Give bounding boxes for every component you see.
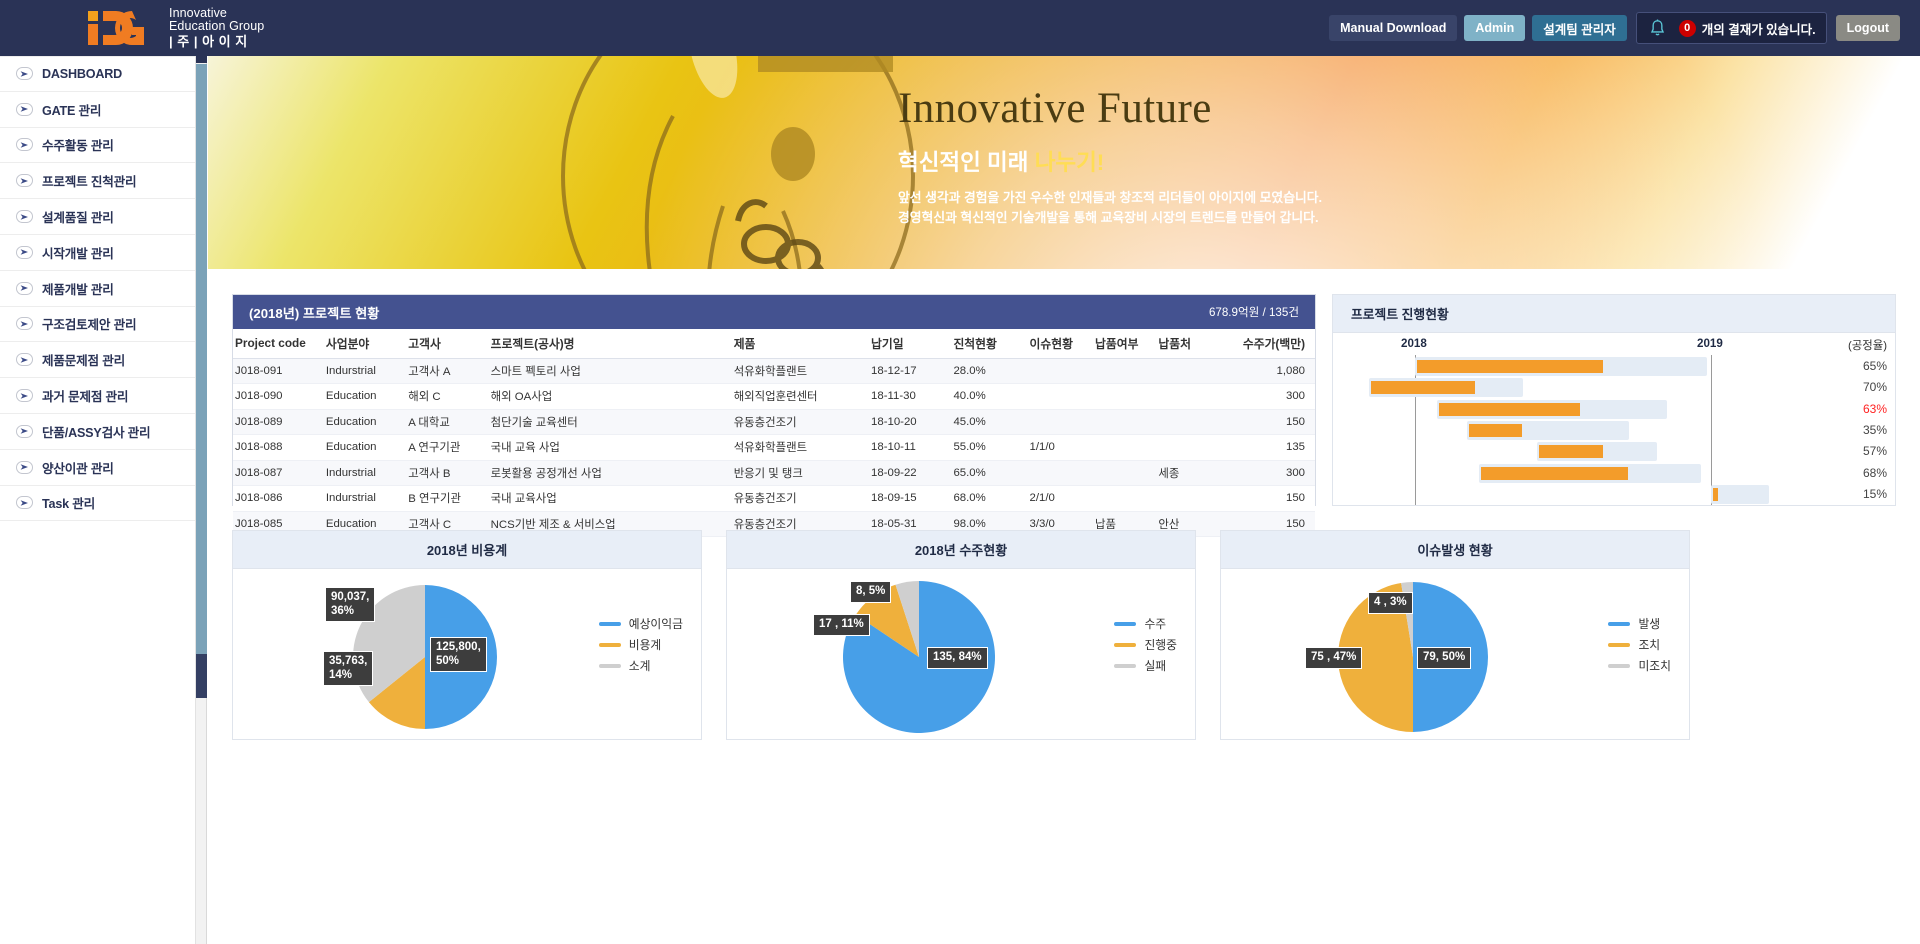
legend-item[interactable]: 진행중	[1114, 636, 1177, 653]
table-row[interactable]: J018-089EducationA 대학교첨단기술 교육센터유동층건조기18-…	[233, 409, 1315, 435]
sidebar-item-12[interactable]: 양산이관 관리	[0, 450, 195, 486]
order-pie-title: 2018년 수주현황	[915, 540, 1007, 559]
table-cell-client: B 연구기관	[406, 486, 488, 512]
banner-title: Innovative Future	[898, 84, 1322, 133]
table-cell-delivered	[1093, 409, 1156, 435]
table-row[interactable]: J018-091Indurstrial고객사 A스마트 펙토리 사업석유화학플랜…	[233, 358, 1315, 384]
cost-pie-body: 예상이익금비용계소계125,800, 50%35,763, 14%90,037,…	[233, 569, 701, 739]
table-cell-client: A 연구기관	[406, 435, 488, 461]
legend-label: 진행중	[1144, 636, 1177, 653]
pie-legend: 예상이익금비용계소계	[599, 615, 683, 678]
cost-pie-header: 2018년 비용계	[233, 531, 701, 569]
sidebar-item-10[interactable]: 과거 문제점 관리	[0, 378, 195, 414]
table-cell-project: 첨단기술 교육센터	[489, 409, 732, 435]
table-cell-project: 해외 OA사업	[489, 384, 732, 410]
chevron-right-icon	[16, 353, 33, 366]
banner-text-block: Innovative Future 혁신적인 미래 나누기! 앞선 생각과 경험…	[898, 84, 1322, 228]
pie-data-label: 8, 5%	[850, 581, 891, 603]
table-cell-amount: 1,080	[1220, 358, 1315, 384]
notification-text: 개의 결재가 있습니다.	[1702, 19, 1816, 38]
sidebar-item-label: 양산이관 관리	[42, 458, 114, 477]
gantt-progress-percent: 63%	[1841, 402, 1887, 416]
sidebar: DASHBOARDGATE 관리수주활동 관리프로젝트 진척관리설계품질 관리시…	[0, 56, 196, 944]
gantt-unit-label: (공정율)	[1848, 337, 1887, 353]
table-cell-due: 18-11-30	[869, 384, 951, 410]
table-column-header: 이슈현황	[1028, 329, 1094, 358]
sidebar-item-4[interactable]: 프로젝트 진척관리	[0, 163, 195, 199]
project-table: Project code사업분야고객사프로젝트(공사)명제품납기일진척현황이슈현…	[233, 329, 1315, 537]
chevron-right-icon	[16, 210, 33, 223]
legend-item[interactable]: 실패	[1114, 657, 1177, 674]
table-column-header: 사업분야	[324, 329, 406, 358]
pie-data-label: 17 , 11%	[813, 614, 870, 636]
issue-pie-card: 이슈발생 현황 발생조치미조치79, 50%75 , 47%4 , 3%	[1220, 530, 1690, 740]
table-cell-client: 고객사 B	[406, 460, 488, 486]
scrollbar-bottom-cap	[196, 654, 207, 698]
gantt-row: 15%	[1333, 485, 1895, 504]
table-cell-amount: 150	[1220, 409, 1315, 435]
pie-data-label: 4 , 3%	[1368, 592, 1413, 614]
table-cell-dest	[1156, 409, 1219, 435]
gantt-bar-fill	[1417, 360, 1603, 373]
table-header-row: Project code사업분야고객사프로젝트(공사)명제품납기일진척현황이슈현…	[233, 329, 1315, 358]
table-cell-field: Indurstrial	[324, 358, 406, 384]
chevron-right-icon	[16, 425, 33, 438]
banner-subtitle: 혁신적인 미래 나누기!	[898, 145, 1322, 177]
lightbulb-illustration-icon	[488, 56, 968, 269]
table-cell-progress: 40.0%	[951, 384, 1027, 410]
table-cell-issue	[1028, 409, 1094, 435]
sidebar-item-3[interactable]: 수주활동 관리	[0, 128, 195, 164]
notification-area[interactable]: 0 개의 결재가 있습니다.	[1636, 12, 1827, 44]
gantt-axis-label-2019: 2019	[1697, 337, 1723, 350]
top-bar: Innovative Education Group | 주 | 아 이 지 M…	[0, 0, 1920, 56]
notification-count: 0	[1679, 20, 1696, 37]
project-progress-card: 프로젝트 진행현황 20182019(공정율)65%70%63%35%57%68…	[1332, 294, 1896, 506]
table-row[interactable]: J018-090Education해외 C해외 OA사업해외직업훈련센터18-1…	[233, 384, 1315, 410]
sidebar-item-label: 수주활동 관리	[42, 135, 114, 154]
manual-download-button[interactable]: Manual Download	[1329, 15, 1457, 41]
legend-label: 실패	[1144, 657, 1166, 674]
chevron-right-icon	[16, 103, 33, 116]
table-cell-progress: 68.0%	[951, 486, 1027, 512]
sidebar-item-11[interactable]: 단품/ASSY검사 관리	[0, 414, 195, 450]
table-cell-project: 로봇활용 공정개선 사업	[489, 460, 732, 486]
table-cell-due: 18-09-15	[869, 486, 951, 512]
gantt-bar-fill	[1481, 467, 1628, 480]
table-cell-due: 18-10-20	[869, 409, 951, 435]
gantt-row: 70%	[1333, 378, 1895, 397]
gantt-bar-track	[1711, 485, 1769, 504]
pie-data-label: 35,763, 14%	[323, 651, 373, 686]
legend-swatch	[599, 664, 621, 668]
legend-swatch	[1114, 643, 1136, 647]
gantt-row: 65%	[1333, 357, 1895, 376]
table-cell-product: 해외직업훈련센터	[732, 384, 869, 410]
gantt-row: 63%	[1333, 400, 1895, 419]
gantt-card-title: 프로젝트 진행현황	[1351, 304, 1449, 323]
gantt-chart: 20182019(공정율)65%70%63%35%57%68%15%	[1333, 333, 1895, 506]
table-column-header: 납품처	[1156, 329, 1219, 358]
top-bar-actions: Manual Download Admin 설계팀 관리자 0 개의 결재가 있…	[1329, 0, 1900, 56]
table-cell-code: J018-086	[233, 486, 324, 512]
legend-item[interactable]: 소계	[599, 657, 683, 674]
table-cell-code: J018-088	[233, 435, 324, 461]
legend-swatch	[599, 643, 621, 647]
table-cell-issue	[1028, 384, 1094, 410]
legend-swatch	[1608, 643, 1630, 647]
banner-subtitle-highlight: 나누기!	[1035, 150, 1105, 175]
sidebar-item-7[interactable]: 제품개발 관리	[0, 271, 195, 307]
gantt-bar-fill	[1469, 424, 1522, 437]
table-cell-project: 국내 교육사업	[489, 486, 732, 512]
logo-line-3: | 주 | 아 이 지	[169, 35, 264, 49]
sidebar-item-label: 시작개발 관리	[42, 243, 114, 262]
sidebar-item-9[interactable]: 제품문제점 관리	[0, 342, 195, 378]
sidebar-item-label: 과거 문제점 관리	[42, 386, 128, 405]
table-cell-project: 스마트 펙토리 사업	[489, 358, 732, 384]
page-scrollbar[interactable]	[196, 56, 207, 944]
table-cell-product: 유동층건조기	[732, 409, 869, 435]
order-pie-card: 2018년 수주현황 수주진행중실패135, 84%17 , 11%8, 5%	[726, 530, 1196, 740]
logout-button[interactable]: Logout	[1836, 15, 1900, 41]
chevron-right-icon	[16, 282, 33, 295]
table-column-header: 수주가(백만)	[1220, 329, 1315, 358]
gantt-bar-fill	[1713, 488, 1718, 501]
table-row[interactable]: J018-087Indurstrial고객사 B로봇활용 공정개선 사업반응기 …	[233, 460, 1315, 486]
issue-pie-header: 이슈발생 현황	[1221, 531, 1689, 569]
legend-item[interactable]: 미조치	[1608, 657, 1671, 674]
sidebar-item-label: GATE 관리	[42, 100, 101, 119]
table-column-header: 진척현황	[951, 329, 1027, 358]
table-cell-field: Indurstrial	[324, 460, 406, 486]
pie-data-label: 90,037, 36%	[325, 587, 375, 622]
table-cell-progress: 65.0%	[951, 460, 1027, 486]
table-cell-dest: 세종	[1156, 460, 1219, 486]
table-cell-delivered	[1093, 384, 1156, 410]
table-cell-project: 국내 교육 사업	[489, 435, 732, 461]
table-cell-code: J018-089	[233, 409, 324, 435]
table-row[interactable]: J018-086IndurstrialB 연구기관국내 교육사업유동층건조기18…	[233, 486, 1315, 512]
gantt-axis-label-2018: 2018	[1401, 337, 1427, 350]
pie-legend: 수주진행중실패	[1114, 615, 1177, 678]
chevron-right-icon	[16, 174, 33, 187]
chevron-right-icon	[16, 389, 33, 402]
gantt-progress-percent: 35%	[1841, 423, 1887, 437]
sidebar-item-label: 구조검토제안 관리	[42, 314, 136, 333]
issue-pie-body: 발생조치미조치79, 50%75 , 47%4 , 3%	[1221, 569, 1689, 739]
logo-line-1: Innovative	[169, 7, 264, 21]
sidebar-item-label: 단품/ASSY검사 관리	[42, 422, 150, 441]
project-status-card: (2018년) 프로젝트 현황 678.9억원 / 135건 Project c…	[232, 294, 1316, 506]
chevron-right-icon	[16, 138, 33, 151]
sidebar-item-6[interactable]: 시작개발 관리	[0, 235, 195, 271]
logo[interactable]: Innovative Education Group | 주 | 아 이 지	[0, 7, 264, 49]
idg-logo-icon	[88, 11, 160, 45]
table-column-header: 납기일	[869, 329, 951, 358]
legend-label: 소계	[629, 657, 651, 674]
sidebar-item-label: 제품개발 관리	[42, 279, 114, 298]
table-cell-due: 18-12-17	[869, 358, 951, 384]
bell-icon[interactable]	[1637, 13, 1679, 43]
chevron-right-icon	[16, 496, 33, 509]
table-cell-field: Indurstrial	[324, 486, 406, 512]
table-cell-dest	[1156, 384, 1219, 410]
banner-body-line-1: 앞선 생각과 경험을 가진 우수한 인재들과 창조적 리더들이 아이지에 모였습…	[898, 188, 1322, 208]
gantt-progress-percent: 70%	[1841, 380, 1887, 394]
table-cell-field: Education	[324, 435, 406, 461]
legend-label: 미조치	[1638, 657, 1671, 674]
table-cell-progress: 55.0%	[951, 435, 1027, 461]
project-card-title: (2018년) 프로젝트 현황	[249, 303, 379, 322]
pie-data-label: 79, 50%	[1417, 647, 1471, 669]
table-cell-client: 고객사 A	[406, 358, 488, 384]
table-cell-delivered	[1093, 486, 1156, 512]
legend-swatch	[1114, 664, 1136, 668]
table-cell-product: 반응기 및 탱크	[732, 460, 869, 486]
table-row[interactable]: J018-088EducationA 연구기관국내 교육 사업석유화학플랜트18…	[233, 435, 1315, 461]
chevron-right-icon	[16, 246, 33, 259]
table-cell-product: 석유화학플랜트	[732, 435, 869, 461]
legend-swatch	[1114, 622, 1136, 626]
project-card-meta: 678.9억원 / 135건	[1209, 304, 1299, 320]
table-cell-product: 석유화학플랜트	[732, 358, 869, 384]
project-card-header: (2018년) 프로젝트 현황 678.9억원 / 135건	[233, 295, 1315, 329]
gantt-card-header: 프로젝트 진행현황	[1333, 295, 1895, 333]
table-cell-issue: 2/1/0	[1028, 486, 1094, 512]
legend-item[interactable]: 수주	[1114, 615, 1177, 632]
table-cell-delivered	[1093, 358, 1156, 384]
cost-pie-card: 2018년 비용계 예상이익금비용계소계125,800, 50%35,763, …	[232, 530, 702, 740]
gantt-progress-percent: 68%	[1841, 466, 1887, 480]
table-column-header: Project code	[233, 329, 324, 358]
chevron-right-icon	[16, 461, 33, 474]
table-cell-amount: 300	[1220, 460, 1315, 486]
legend-label: 비용계	[629, 636, 662, 653]
sidebar-item-label: Task 관리	[42, 493, 95, 512]
gantt-bar-fill	[1539, 445, 1603, 458]
table-cell-client: A 대학교	[406, 409, 488, 435]
gantt-progress-percent: 15%	[1841, 487, 1887, 501]
legend-swatch	[599, 622, 621, 626]
legend-swatch	[1608, 622, 1630, 626]
table-cell-product: 유동층건조기	[732, 486, 869, 512]
legend-item[interactable]: 발생	[1608, 615, 1671, 632]
table-cell-client: 해외 C	[406, 384, 488, 410]
table-cell-code: J018-090	[233, 384, 324, 410]
scrollbar-top-cap	[196, 56, 207, 63]
legend-label: 예상이익금	[629, 615, 683, 632]
table-cell-due: 18-10-11	[869, 435, 951, 461]
gantt-row: 35%	[1333, 421, 1895, 440]
legend-swatch	[1608, 664, 1630, 668]
legend-item[interactable]: 조치	[1608, 636, 1671, 653]
chevron-right-icon	[16, 317, 33, 330]
table-cell-amount: 135	[1220, 435, 1315, 461]
table-cell-field: Education	[324, 384, 406, 410]
table-cell-amount: 300	[1220, 384, 1315, 410]
legend-label: 조치	[1638, 636, 1660, 653]
gantt-progress-percent: 65%	[1841, 359, 1887, 373]
table-cell-field: Education	[324, 409, 406, 435]
table-cell-progress: 28.0%	[951, 358, 1027, 384]
table-cell-amount: 150	[1220, 486, 1315, 512]
gantt-row: 68%	[1333, 464, 1895, 483]
table-body: J018-091Indurstrial고객사 A스마트 펙토리 사업석유화학플랜…	[233, 358, 1315, 537]
table-column-header: 제품	[732, 329, 869, 358]
table-cell-delivered	[1093, 460, 1156, 486]
sidebar-item-label: 프로젝트 진척관리	[42, 171, 136, 190]
table-cell-dest	[1156, 358, 1219, 384]
pie-data-label: 75 , 47%	[1305, 647, 1362, 669]
table-cell-dest	[1156, 435, 1219, 461]
legend-label: 발생	[1638, 615, 1660, 632]
table-cell-issue	[1028, 358, 1094, 384]
table-cell-progress: 45.0%	[951, 409, 1027, 435]
table-cell-due: 18-09-22	[869, 460, 951, 486]
order-pie-body: 수주진행중실패135, 84%17 , 11%8, 5%	[727, 569, 1195, 739]
table-column-header: 납품여부	[1093, 329, 1156, 358]
gantt-row: 57%	[1333, 442, 1895, 461]
pie-data-label: 135, 84%	[927, 647, 988, 669]
sidebar-item-label: 제품문제점 관리	[42, 350, 125, 369]
sidebar-item-label: DASHBOARD	[42, 67, 122, 81]
chevron-right-icon	[16, 67, 33, 80]
scrollbar-thumb[interactable]	[196, 64, 207, 654]
table-cell-code: J018-091	[233, 358, 324, 384]
sidebar-item-8[interactable]: 구조검토제안 관리	[0, 307, 195, 343]
sidebar-item-2[interactable]: GATE 관리	[0, 92, 195, 128]
table-cell-issue: 1/1/0	[1028, 435, 1094, 461]
table-column-header: 프로젝트(공사)명	[489, 329, 732, 358]
hero-banner: Innovative Future 혁신적인 미래 나누기! 앞선 생각과 경험…	[208, 56, 1920, 269]
table-cell-issue	[1028, 460, 1094, 486]
order-pie-header: 2018년 수주현황	[727, 531, 1195, 569]
cost-pie-title: 2018년 비용계	[427, 540, 507, 559]
issue-pie-title: 이슈발생 현황	[1417, 540, 1492, 559]
legend-item[interactable]: 비용계	[599, 636, 683, 653]
table-cell-delivered	[1093, 435, 1156, 461]
table-cell-code: J018-087	[233, 460, 324, 486]
table-cell-dest	[1156, 486, 1219, 512]
banner-subtitle-main: 혁신적인 미래	[898, 150, 1035, 175]
team-manager-button[interactable]: 설계팀 관리자	[1532, 15, 1626, 41]
sidebar-item-1[interactable]: DASHBOARD	[0, 56, 195, 92]
gantt-progress-percent: 57%	[1841, 444, 1887, 458]
main-content: Innovative Future 혁신적인 미래 나누기! 앞선 생각과 경험…	[208, 56, 1920, 944]
logo-line-2: Education Group	[169, 20, 264, 34]
banner-body: 앞선 생각과 경험을 가진 우수한 인재들과 창조적 리더들이 아이지에 모였습…	[898, 188, 1322, 228]
sidebar-item-5[interactable]: 설계품질 관리	[0, 199, 195, 235]
pie-legend: 발생조치미조치	[1608, 615, 1671, 678]
pie-data-label: 125,800, 50%	[430, 637, 487, 672]
legend-item[interactable]: 예상이익금	[599, 615, 683, 632]
sidebar-item-label: 설계품질 관리	[42, 207, 114, 226]
sidebar-item-13[interactable]: Task 관리	[0, 486, 195, 522]
banner-body-line-2: 경영혁신과 혁신적인 기술개발을 통해 교육장비 시장의 트렌드를 만들어 갑니…	[898, 208, 1322, 228]
admin-button[interactable]: Admin	[1464, 15, 1525, 41]
gantt-bar-fill	[1371, 381, 1475, 394]
table-column-header: 고객사	[406, 329, 488, 358]
legend-label: 수주	[1144, 615, 1166, 632]
gantt-bar-fill	[1439, 403, 1580, 416]
